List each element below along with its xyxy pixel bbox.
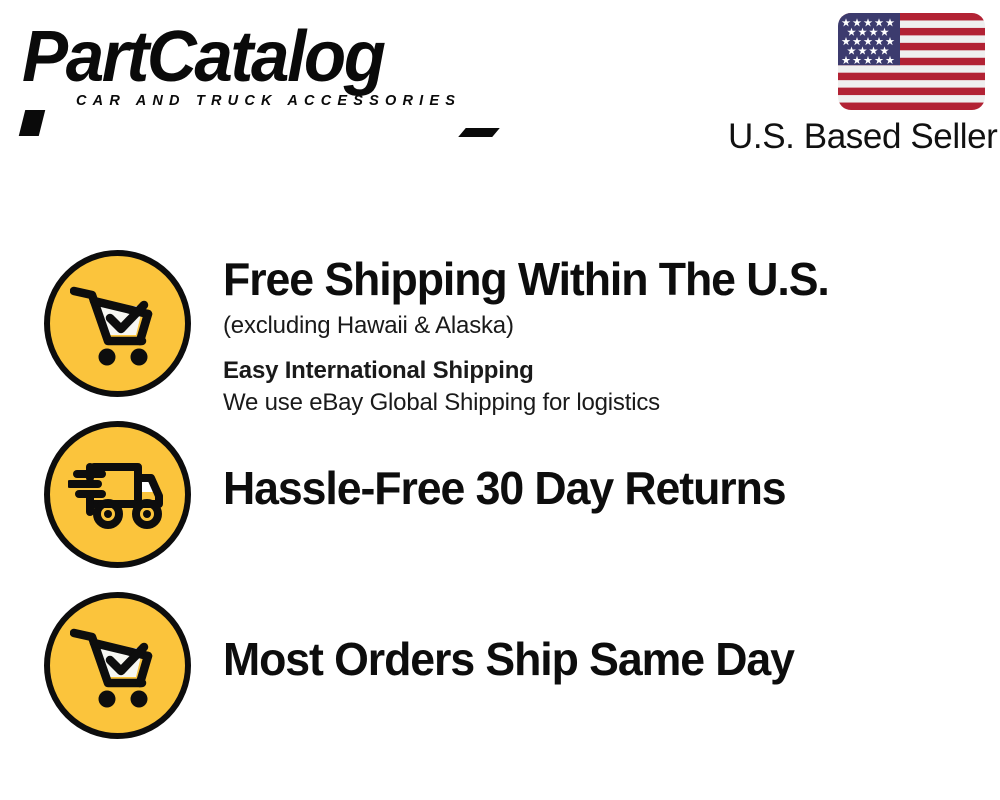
feature-subline: (excluding Hawaii & Alaska) <box>223 310 990 341</box>
feature-text-block: Hassle-Free 30 Day Returns <box>223 465 990 513</box>
feature-subline: We use eBay Global Shipping for logistic… <box>223 387 990 418</box>
feature-text-block: Most Orders Ship Same Day <box>223 636 990 684</box>
delivery-truck-icon <box>44 421 191 568</box>
shopping-cart-check-icon <box>44 250 191 397</box>
shopping-cart-check-icon <box>44 592 191 739</box>
feature-headline: Most Orders Ship Same Day <box>223 636 967 684</box>
feature-text-block: Free Shipping Within The U.S. (excluding… <box>223 256 990 418</box>
feature-list: Free Shipping Within The U.S. (excluding… <box>0 0 1000 800</box>
feature-subline-bold: Easy International Shipping <box>223 355 990 386</box>
feature-headline: Free Shipping Within The U.S. <box>223 256 967 304</box>
feature-headline: Hassle-Free 30 Day Returns <box>223 465 967 513</box>
